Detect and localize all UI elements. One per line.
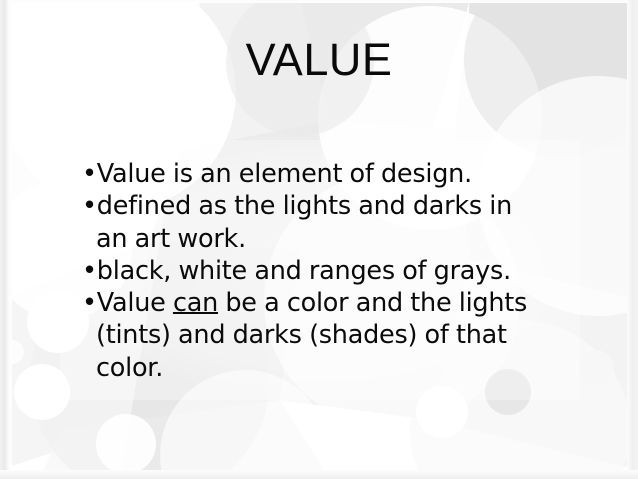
slide-title: VALUE xyxy=(0,36,638,83)
bullet-marker-4: • xyxy=(82,288,97,318)
bullet-marker-3: • xyxy=(82,256,97,286)
bullet-marker-2: • xyxy=(82,191,97,221)
bullet-text-2: defined as the lights and darks in an ar… xyxy=(96,191,512,253)
slide-content: VALUE •Value is an element of design. •d… xyxy=(0,0,638,479)
slide-body: •Value is an element of design. •defined… xyxy=(82,158,544,384)
bullet-item-1: •Value is an element of design. xyxy=(82,158,544,190)
bullet-text-4-pre: Value xyxy=(97,288,173,318)
presentation-slide: VALUE •Value is an element of design. •d… xyxy=(0,0,638,479)
bullet-marker-1: • xyxy=(82,159,97,189)
bullet-text-4-emphasis: can xyxy=(173,288,218,318)
bullet-item-3: •black, white and ranges of grays. xyxy=(82,255,544,287)
bullet-item-2: •defined as the lights and darks in an a… xyxy=(82,190,544,255)
bullet-text-1: Value is an element of design. xyxy=(97,159,472,189)
bullet-item-4: •Value can be a color and the lights (ti… xyxy=(82,287,544,384)
bullet-text-3: black, white and ranges of grays. xyxy=(97,256,511,286)
